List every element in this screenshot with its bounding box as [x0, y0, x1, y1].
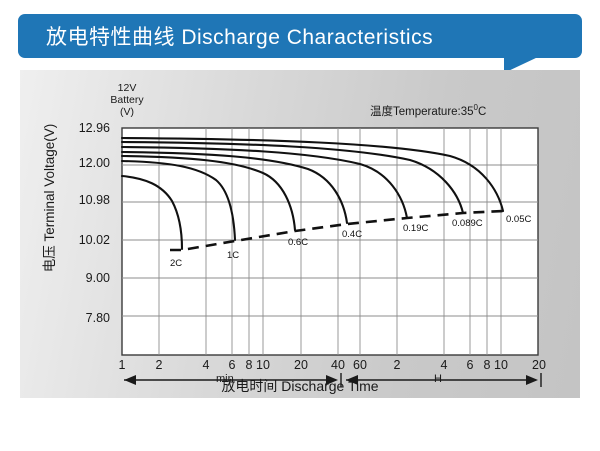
page-title: 放电特性曲线 Discharge Characteristics — [18, 21, 433, 51]
curve-label-0.4C: 0.4C — [342, 229, 362, 240]
curve-label-0.6C: 0.6C — [288, 237, 308, 248]
x-tick-hour-4: 4 — [434, 358, 454, 372]
curve-label-1C: 1C — [227, 250, 239, 261]
curve-label-0.089C: 0.089C — [452, 218, 483, 229]
x-tick-min-2: 2 — [149, 358, 169, 372]
x-tick-min-10: 10 — [253, 358, 273, 372]
x-tick-hour-2: 2 — [387, 358, 407, 372]
x-axis-title: 放电时间 Discharge Time — [20, 376, 580, 396]
x-tick-hour-10: 10 — [491, 358, 511, 372]
plot-frame — [122, 128, 538, 355]
x-tick-min-60: 60 — [350, 358, 370, 372]
chart-page: 放电特性曲线 Discharge Characteristics 12V Bat… — [0, 0, 600, 451]
chart-canvas: 12V Battery (V) 温度Temperature:350C 电压 Te… — [20, 70, 580, 398]
x-tick-min-40: 40 — [328, 358, 348, 372]
curve-label-2C: 2C — [170, 258, 182, 269]
x-tick-min-4: 4 — [196, 358, 216, 372]
plot-svg — [20, 70, 580, 398]
curve-label-0.05C: 0.05C — [506, 214, 531, 225]
x-tick-hour-20: 20 — [529, 358, 549, 372]
x-tick-min-1: 1 — [112, 358, 132, 372]
x-tick-min-20: 20 — [291, 358, 311, 372]
header-banner: 放电特性曲线 Discharge Characteristics — [18, 14, 582, 62]
curve-label-0.19C: 0.19C — [403, 223, 428, 234]
banner-body: 放电特性曲线 Discharge Characteristics — [18, 14, 582, 58]
